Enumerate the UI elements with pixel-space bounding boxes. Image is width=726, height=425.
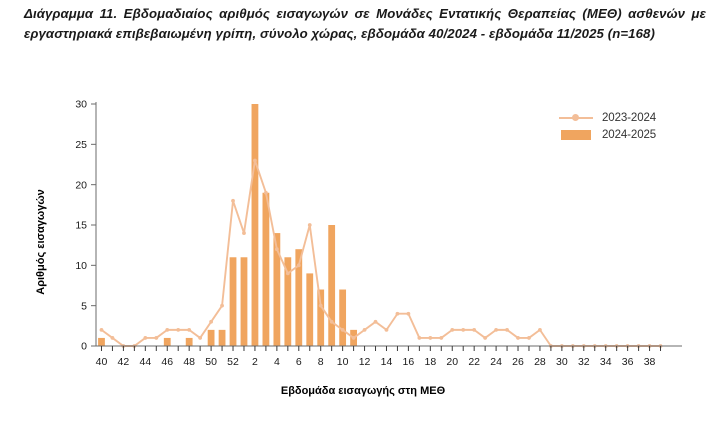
x-tick-label-24: 24 <box>490 356 502 368</box>
chart-legend: 2023-2024 2024-2025 <box>556 110 656 144</box>
x-tick-label-8: 8 <box>318 356 324 368</box>
bar-9 <box>328 225 335 346</box>
line-point-17 <box>417 336 421 340</box>
x-tick-label-46: 46 <box>161 356 173 368</box>
line-point-46 <box>165 328 169 332</box>
line-point-21 <box>461 328 465 332</box>
bar-7 <box>306 273 313 346</box>
legend-item-2024-2025: 2024-2025 <box>556 127 656 142</box>
line-point-44 <box>143 336 147 340</box>
bar-50 <box>208 330 215 346</box>
x-tick-label-28: 28 <box>534 356 546 368</box>
x-tick-label-34: 34 <box>600 356 612 368</box>
x-tick-label-12: 12 <box>359 356 371 368</box>
bar-10 <box>339 290 346 346</box>
line-point-10 <box>341 328 345 332</box>
line-point-49 <box>198 336 202 340</box>
x-tick-label-22: 22 <box>468 356 480 368</box>
line-point-41 <box>111 336 115 340</box>
bar-46 <box>164 338 171 346</box>
legend-label-2023-2024: 2023-2024 <box>602 112 656 124</box>
line-point-1 <box>242 231 246 235</box>
line-point-4 <box>275 247 279 251</box>
bar-2 <box>252 104 259 346</box>
line-point-9 <box>330 320 334 324</box>
x-tick-label-14: 14 <box>381 356 393 368</box>
line-point-12 <box>363 328 367 332</box>
y-tick-label-15: 15 <box>75 220 87 232</box>
line-point-40 <box>100 328 104 332</box>
x-tick-label-42: 42 <box>118 356 130 368</box>
line-point-8 <box>319 304 323 308</box>
x-tick-label-16: 16 <box>403 356 415 368</box>
x-tick-label-20: 20 <box>446 356 458 368</box>
x-tick-label-36: 36 <box>622 356 634 368</box>
x-tick-label-52: 52 <box>227 356 239 368</box>
x-tick-label-30: 30 <box>556 356 568 368</box>
x-tick-label-6: 6 <box>296 356 302 368</box>
legend-bar-swatch-icon <box>556 130 596 140</box>
line-point-22 <box>472 328 476 332</box>
line-point-3 <box>264 191 268 195</box>
figure-caption: Διάγραμμα 11. Εβδομαδιαίος αριθμός εισαγ… <box>24 4 706 44</box>
x-tick-label-38: 38 <box>644 356 656 368</box>
line-point-52 <box>231 199 235 203</box>
y-tick-label-5: 5 <box>81 300 87 312</box>
y-tick-label-25: 25 <box>75 139 87 151</box>
line-point-2 <box>253 159 257 163</box>
line-series-2023-2024 <box>101 160 660 346</box>
line-point-26 <box>516 336 520 340</box>
x-tick-label-4: 4 <box>274 356 280 368</box>
figure-container: Διάγραμμα 11. Εβδομαδιαίος αριθμός εισαγ… <box>0 0 726 425</box>
line-point-50 <box>209 320 213 324</box>
bar-48 <box>186 338 193 346</box>
line-point-16 <box>407 312 411 316</box>
line-point-51 <box>220 304 224 308</box>
bar-40 <box>98 338 105 346</box>
y-tick-label-10: 10 <box>75 260 87 272</box>
line-point-5 <box>286 272 290 276</box>
line-point-11 <box>352 336 356 340</box>
x-tick-label-48: 48 <box>183 356 195 368</box>
line-point-25 <box>505 328 509 332</box>
x-tick-label-18: 18 <box>424 356 436 368</box>
line-point-48 <box>187 328 191 332</box>
line-point-45 <box>154 336 158 340</box>
line-point-47 <box>176 328 180 332</box>
x-tick-label-32: 32 <box>578 356 590 368</box>
bar-51 <box>219 330 226 346</box>
line-point-28 <box>538 328 542 332</box>
bar-3 <box>263 193 270 346</box>
x-tick-label-40: 40 <box>96 356 108 368</box>
bar-52 <box>230 257 237 346</box>
legend-line-swatch-icon <box>556 117 596 119</box>
x-tick-label-44: 44 <box>139 356 151 368</box>
legend-label-2024-2025: 2024-2025 <box>602 129 656 141</box>
y-tick-label-30: 30 <box>75 99 87 111</box>
x-tick-label-2: 2 <box>252 356 258 368</box>
line-point-14 <box>385 328 389 332</box>
line-point-15 <box>396 312 400 316</box>
line-point-27 <box>527 336 531 340</box>
y-tick-label-0: 0 <box>81 341 87 353</box>
line-point-19 <box>439 336 443 340</box>
legend-item-2023-2024: 2023-2024 <box>556 110 656 125</box>
line-point-20 <box>450 328 454 332</box>
x-tick-label-26: 26 <box>512 356 524 368</box>
line-point-24 <box>494 328 498 332</box>
line-point-7 <box>308 223 312 227</box>
bar-8 <box>317 290 324 346</box>
x-tick-label-10: 10 <box>337 356 349 368</box>
line-point-18 <box>428 336 432 340</box>
y-axis-title: Αριθμός εισαγωγών <box>35 157 47 327</box>
x-axis-title: Εβδομάδα εισαγωγής στη ΜΕΘ <box>0 385 726 397</box>
line-point-6 <box>297 263 301 267</box>
x-tick-label-50: 50 <box>205 356 217 368</box>
y-tick-label-20: 20 <box>75 179 87 191</box>
bar-1 <box>241 257 248 346</box>
line-point-13 <box>374 320 378 324</box>
line-point-23 <box>483 336 487 340</box>
